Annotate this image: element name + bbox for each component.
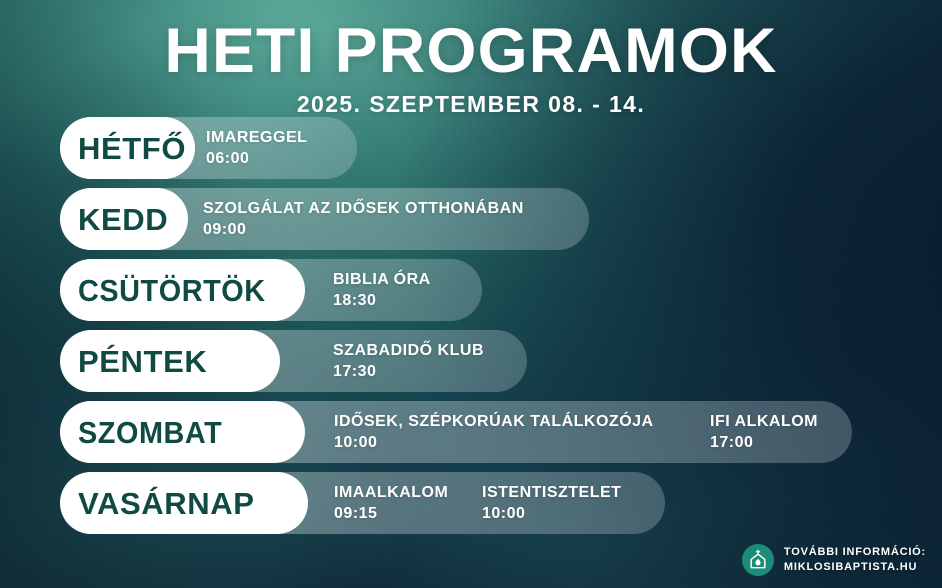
day-label: SZOMBAT [78, 417, 222, 448]
event-time: 17:30 [333, 361, 484, 382]
schedule-list: HÉTFŐIMAREGGEL06:00KEDDSZOLGÁLAT AZ IDŐS… [60, 117, 940, 543]
event-block: IMAALKALOM09:15 [334, 482, 448, 524]
day-pill: KEDD [60, 188, 188, 250]
day-label: HÉTFŐ [78, 133, 186, 164]
event-entry: IFI ALKALOM17:00 [710, 401, 818, 463]
event-name: SZABADIDŐ KLUB [333, 340, 484, 361]
event-entry: SZOLGÁLAT AZ IDŐSEK OTTHONÁBAN09:00 [203, 188, 524, 250]
event-name: IFI ALKALOM [710, 411, 818, 432]
event-time: 09:15 [334, 503, 448, 524]
event-name: BIBLIA ÓRA [333, 269, 431, 290]
event-entry: SZABADIDŐ KLUB17:30 [333, 330, 484, 392]
event-name: IMAALKALOM [334, 482, 448, 503]
schedule-row: VASÁRNAPIMAALKALOM09:15ISTENTISZTELET10:… [60, 472, 940, 534]
event-block: ISTENTISZTELET10:00 [482, 482, 621, 524]
schedule-row: PÉNTEKSZABADIDŐ KLUB17:30 [60, 330, 940, 392]
event-block: SZABADIDŐ KLUB17:30 [333, 340, 484, 382]
day-pill: HÉTFŐ [60, 117, 195, 179]
schedule-row: HÉTFŐIMAREGGEL06:00 [60, 117, 940, 179]
day-pill: SZOMBAT [60, 401, 305, 463]
event-time: 09:00 [203, 219, 524, 240]
day-label: KEDD [78, 204, 168, 235]
event-name: IDŐSEK, SZÉPKORÚAK TALÁLKOZÓJA [334, 411, 654, 432]
footer-info: TOVÁBBI INFORMÁCIÓ: MIKLOSIBAPTISTA.HU [742, 544, 926, 576]
page-title: HETI PROGRAMOK [0, 16, 942, 86]
church-house-flame-icon [742, 544, 774, 576]
event-entry: IMAALKALOM09:15 [334, 472, 448, 534]
footer-text-block: TOVÁBBI INFORMÁCIÓ: MIKLOSIBAPTISTA.HU [784, 545, 926, 575]
event-name: IMAREGGEL [206, 127, 307, 148]
footer-label: TOVÁBBI INFORMÁCIÓ: [784, 545, 926, 560]
day-label: VASÁRNAP [78, 488, 254, 519]
schedule-row: KEDDSZOLGÁLAT AZ IDŐSEK OTTHONÁBAN09:00 [60, 188, 940, 250]
day-label: CSÜTÖRTÖK [78, 275, 266, 306]
event-time: 10:00 [334, 432, 654, 453]
event-name: SZOLGÁLAT AZ IDŐSEK OTTHONÁBAN [203, 198, 524, 219]
event-entry: IMAREGGEL06:00 [206, 117, 307, 179]
poster-header: HETI PROGRAMOK 2025. SZEPTEMBER 08. - 14… [0, 0, 942, 118]
date-range: 2025. SZEPTEMBER 08. - 14. [0, 90, 942, 118]
event-time: 10:00 [482, 503, 621, 524]
schedule-row: SZOMBATIDŐSEK, SZÉPKORÚAK TALÁLKOZÓJA10:… [60, 401, 940, 463]
day-pill: PÉNTEK [60, 330, 280, 392]
schedule-row: CSÜTÖRTÖKBIBLIA ÓRA18:30 [60, 259, 940, 321]
event-entry: IDŐSEK, SZÉPKORÚAK TALÁLKOZÓJA10:00 [334, 401, 654, 463]
event-entry: ISTENTISZTELET10:00 [482, 472, 621, 534]
day-pill: VASÁRNAP [60, 472, 308, 534]
event-block: IDŐSEK, SZÉPKORÚAK TALÁLKOZÓJA10:00 [334, 411, 654, 453]
footer-website[interactable]: MIKLOSIBAPTISTA.HU [784, 560, 926, 575]
event-time: 17:00 [710, 432, 818, 453]
event-entry: BIBLIA ÓRA18:30 [333, 259, 431, 321]
event-time: 06:00 [206, 148, 307, 169]
event-time: 18:30 [333, 290, 431, 311]
event-block: IMAREGGEL06:00 [206, 127, 307, 169]
day-label: PÉNTEK [78, 346, 207, 377]
event-block: SZOLGÁLAT AZ IDŐSEK OTTHONÁBAN09:00 [203, 198, 524, 240]
event-block: BIBLIA ÓRA18:30 [333, 269, 431, 311]
weekly-program-poster: HETI PROGRAMOK 2025. SZEPTEMBER 08. - 14… [0, 0, 942, 588]
event-block: IFI ALKALOM17:00 [710, 411, 818, 453]
day-pill: CSÜTÖRTÖK [60, 259, 305, 321]
event-name: ISTENTISZTELET [482, 482, 621, 503]
